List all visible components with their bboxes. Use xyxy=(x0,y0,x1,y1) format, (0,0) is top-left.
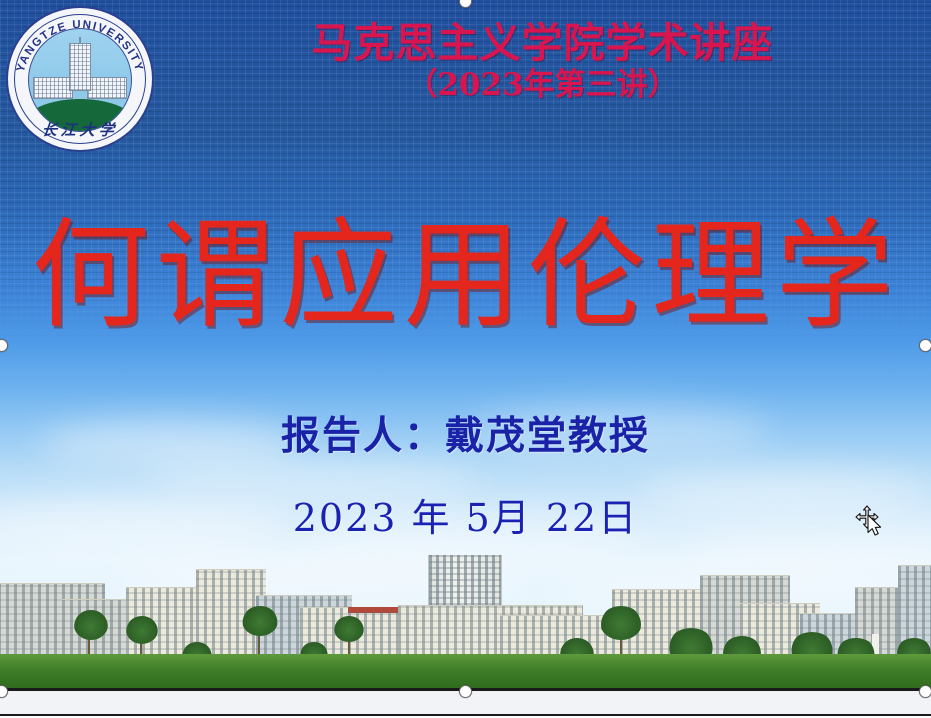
yangtze-university-emblem-icon: YANGTZE UNIVERSITY 长江大学 xyxy=(6,6,154,152)
lecture-series-title: 马克思主义学院学术讲座 xyxy=(170,20,915,66)
handle-middle-right[interactable] xyxy=(919,339,931,352)
slide-presenter[interactable]: 报告人：戴茂堂教授 xyxy=(0,405,931,461)
slide-header[interactable]: 马克思主义学院学术讲座 （2023年第三讲） xyxy=(170,20,915,104)
lecture-series-subtitle: （2023年第三讲） xyxy=(170,66,915,104)
slide-object[interactable]: YANGTZE UNIVERSITY 长江大学 马克思主义学院学术讲座 （202… xyxy=(0,0,931,690)
logo-chinese-name: 长江大学 xyxy=(5,119,155,140)
slide-main-title[interactable]: 何谓应用伦理学 xyxy=(0,212,931,338)
handle-bottom-center[interactable] xyxy=(459,685,472,698)
slide-event-date[interactable]: 2023 年 5月 22日 xyxy=(0,487,931,542)
campus-photo xyxy=(0,555,931,690)
presentation-canvas: YANGTZE UNIVERSITY 长江大学 马克思主义学院学术讲座 （202… xyxy=(0,0,931,718)
editor-base-border xyxy=(0,714,931,716)
handle-bottom-right[interactable] xyxy=(919,685,931,698)
